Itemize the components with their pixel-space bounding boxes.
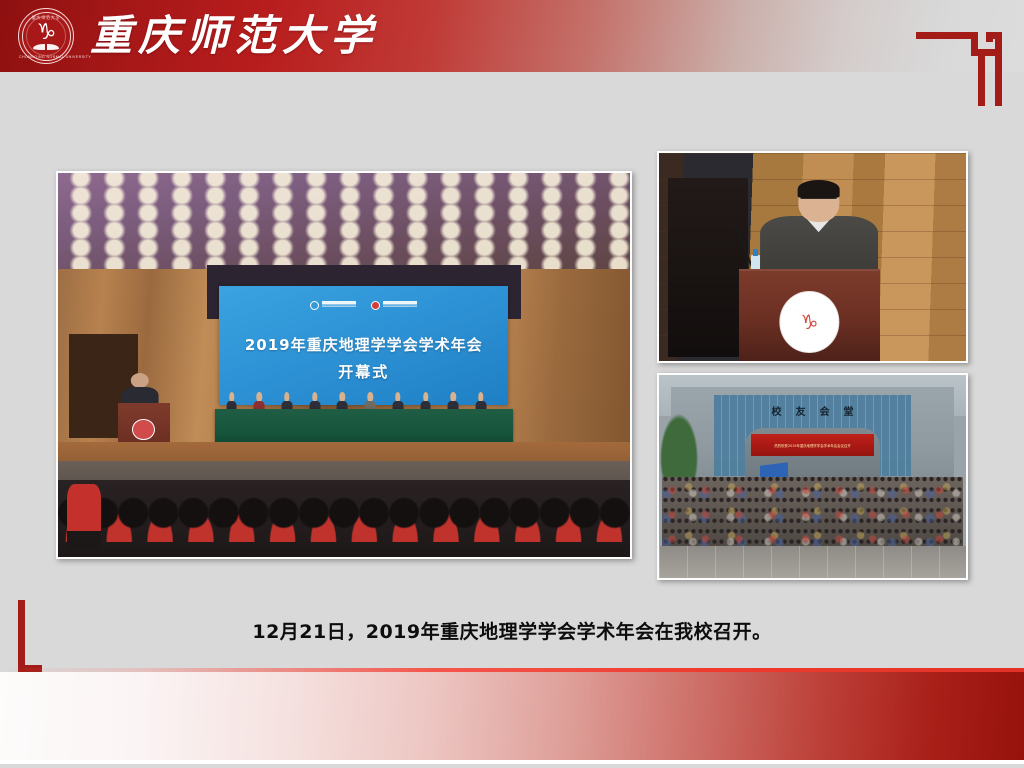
- university-name-title: 重庆师范大学: [90, 12, 378, 60]
- projection-screen: 2019年重庆地理学学会学术年会 开幕式: [219, 286, 508, 405]
- bottom-gradient-band: [0, 672, 1024, 764]
- emblem-book-shape: [33, 44, 59, 50]
- glasses-icon: [800, 198, 837, 205]
- logo-cq-normal-university-icon: [371, 301, 417, 310]
- logo-cq-science-association-icon: [310, 301, 356, 310]
- header-banner: 重庆师范大学 ♑ CHONGQING NORMAL UNIVERSITY 重庆师…: [0, 0, 1024, 72]
- conference-group-photo: 校友会堂 热烈祝贺2019年重庆地理学学会学术年会会议召开: [657, 373, 968, 580]
- opening-ceremony-auditorium-photo: 2019年重庆地理学学会学术年会 开幕式: [56, 171, 632, 559]
- volunteer-in-red-vest: [67, 484, 101, 549]
- university-emblem-icon: 重庆师范大学 ♑ CHONGQING NORMAL UNIVERSITY: [18, 8, 74, 64]
- bottom-white-rule: [0, 760, 1024, 764]
- building-sign-text: 校友会堂: [720, 407, 904, 419]
- red-welcome-banner: 热烈祝贺2019年重庆地理学学会学术年会会议召开: [751, 434, 874, 456]
- group-photo-crowd: [662, 477, 963, 550]
- banner-text: 热烈祝贺2019年重庆地理学学会学术年会会议召开: [751, 444, 874, 449]
- audience-seating: [58, 480, 630, 557]
- emblem-top-ring-text: 重庆师范大学: [19, 15, 73, 20]
- projection-screen-logos: [219, 301, 508, 310]
- speaker-figure: [782, 182, 856, 282]
- caption-area: 12月21日，2019年重庆地理学学会学术年会在我校召开。: [0, 596, 1024, 668]
- plaza-ground: [659, 546, 966, 578]
- wooden-podium: ♑: [739, 269, 880, 361]
- projection-screen-subtitle: 开幕式: [219, 362, 508, 382]
- emblem-glyph: ♑: [19, 22, 73, 44]
- hall-dark-doorway: [668, 178, 748, 357]
- emblem-bottom-ring-text: CHONGQING NORMAL UNIVERSITY: [19, 55, 73, 59]
- slide-caption: 12月21日，2019年重庆地理学学会学术年会在我校召开。: [252, 619, 771, 645]
- auditorium-ceiling: [58, 173, 630, 277]
- presentation-slide: 重庆师范大学 ♑ CHONGQING NORMAL UNIVERSITY 重庆师…: [0, 0, 1024, 768]
- projection-screen-title: 2019年重庆地理学学会学术年会: [219, 335, 508, 355]
- keynote-speaker-podium-photo: ♑: [657, 151, 968, 363]
- podium-university-seal-icon: ♑: [780, 291, 839, 352]
